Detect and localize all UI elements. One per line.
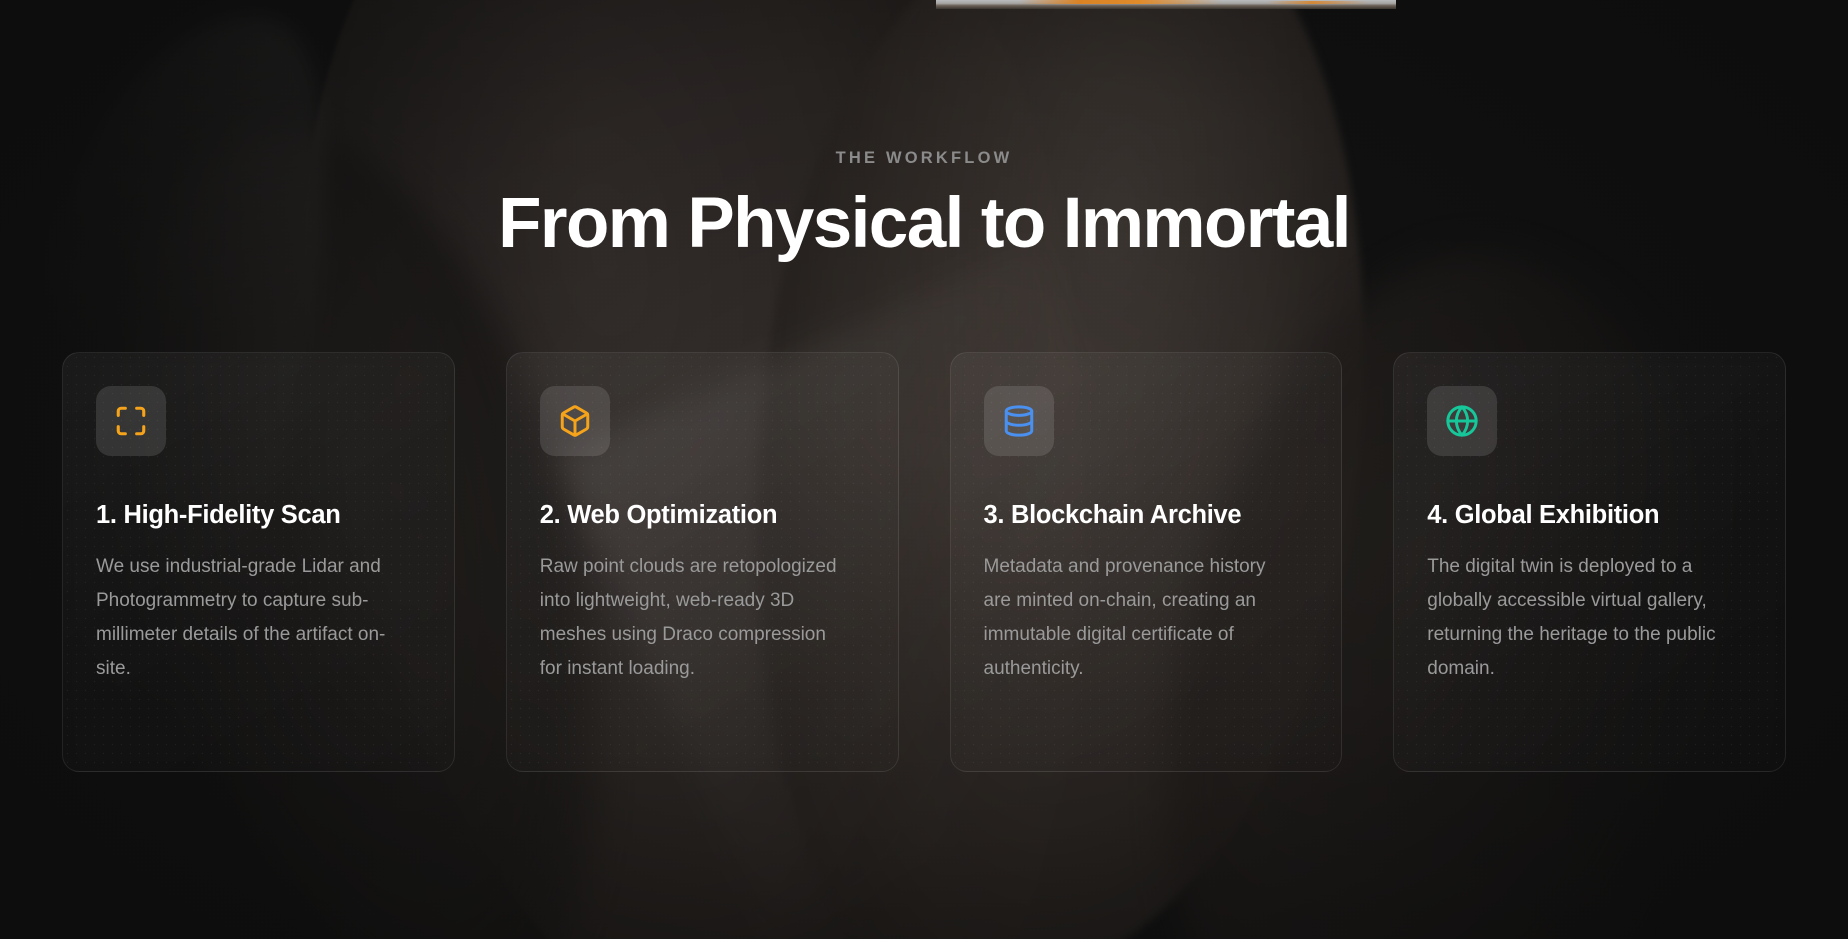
cube-3d-icon — [558, 404, 592, 438]
section-eyebrow: THE WORKFLOW — [0, 149, 1848, 168]
workflow-section: THE WORKFLOW From Physical to Immortal 1… — [0, 0, 1848, 939]
card-title: 3. Blockchain Archive — [984, 501, 1309, 530]
page-title: From Physical to Immortal — [0, 186, 1848, 261]
card-body: We use industrial-grade Lidar and Photog… — [96, 550, 401, 686]
top-edge-sliver — [936, 0, 1396, 9]
icon-tile-globe — [1427, 386, 1497, 456]
section-content: THE WORKFLOW From Physical to Immortal 1… — [0, 149, 1848, 772]
workflow-card-list: 1. High-Fidelity Scan We use industrial-… — [0, 352, 1848, 772]
card-title: 2. Web Optimization — [540, 501, 865, 530]
workflow-card-global-exhibition[interactable]: 4. Global Exhibition The digital twin is… — [1393, 352, 1786, 772]
card-body: The digital twin is deployed to a global… — [1427, 550, 1732, 686]
card-body: Raw point clouds are retopologized into … — [540, 550, 845, 686]
workflow-card-web-optimization[interactable]: 2. Web Optimization Raw point clouds are… — [506, 352, 899, 772]
workflow-card-high-fidelity-scan[interactable]: 1. High-Fidelity Scan We use industrial-… — [62, 352, 455, 772]
scan-frame-icon — [114, 404, 148, 438]
card-title: 4. Global Exhibition — [1427, 501, 1752, 530]
card-title: 1. High-Fidelity Scan — [96, 501, 421, 530]
workflow-card-blockchain-archive[interactable]: 3. Blockchain Archive Metadata and prove… — [950, 352, 1343, 772]
icon-tile-scan — [96, 386, 166, 456]
database-icon — [1002, 404, 1036, 438]
globe-icon — [1445, 404, 1479, 438]
icon-tile-cube — [540, 386, 610, 456]
card-body: Metadata and provenance history are mint… — [984, 550, 1289, 686]
icon-tile-database — [984, 386, 1054, 456]
